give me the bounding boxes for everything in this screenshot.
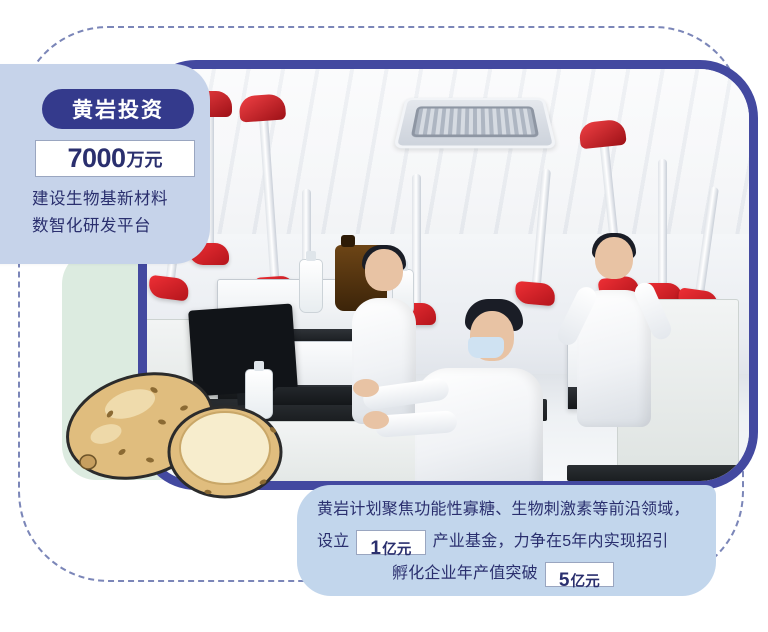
investment-badge: 黄岩投资 (42, 89, 194, 129)
output-value-unit: 亿元 (571, 566, 600, 598)
researcher-seated-at-computer (415, 301, 543, 481)
output-value-number: 5 (559, 565, 570, 597)
reagent-bottle (299, 259, 323, 313)
head (365, 249, 403, 291)
investment-description: 建设生物基新材料 数智化研发平台 (32, 186, 212, 240)
face-mask (468, 337, 504, 358)
plan-line-1: 黄岩计划聚焦功能性寡糖、生物刺激素等前沿领域， (311, 494, 702, 526)
plan-line-2-prefix: 设立 (317, 526, 349, 558)
investment-description-line-2: 数智化研发平台 (32, 213, 212, 240)
potato-illustration (58, 360, 298, 500)
investment-amount-unit: 万元 (127, 146, 163, 172)
fund-amount-box: 1 亿元 (356, 530, 425, 555)
infographic-canvas: 黄岩投资 7000 万元 建设生物基新材料 数智化研发平台 黄岩计划聚焦功能性寡… (0, 0, 768, 632)
potato-cut-shape (169, 407, 281, 497)
plan-line-2: 设立 1 亿元 产业基金，力争在5年内实现招引 (311, 526, 702, 558)
investment-amount-number: 7000 (67, 143, 125, 174)
ceiling-air-vent-icon (393, 97, 557, 148)
head (595, 237, 633, 279)
hand (363, 411, 389, 429)
researcher-right (577, 237, 651, 427)
hand (353, 379, 379, 397)
investment-description-line-1: 建设生物基新材料 (32, 186, 212, 213)
plan-summary-panel: 黄岩计划聚焦功能性寡糖、生物刺激素等前沿领域， 设立 1 亿元 产业基金，力争在… (297, 485, 716, 596)
fund-amount-number: 1 (370, 533, 381, 565)
lab-bench-top (567, 465, 749, 481)
plan-line-2-suffix: 产业基金，力争在5年内实现招引 (433, 526, 669, 558)
output-value-box: 5 亿元 (545, 562, 614, 587)
investment-card: 黄岩投资 7000 万元 建设生物基新材料 数智化研发平台 (0, 64, 210, 264)
plan-line-3-prefix: 孵化企业年产值突破 (392, 558, 538, 590)
investment-amount-box: 7000 万元 (35, 140, 195, 177)
fume-arm-icon (655, 159, 668, 299)
